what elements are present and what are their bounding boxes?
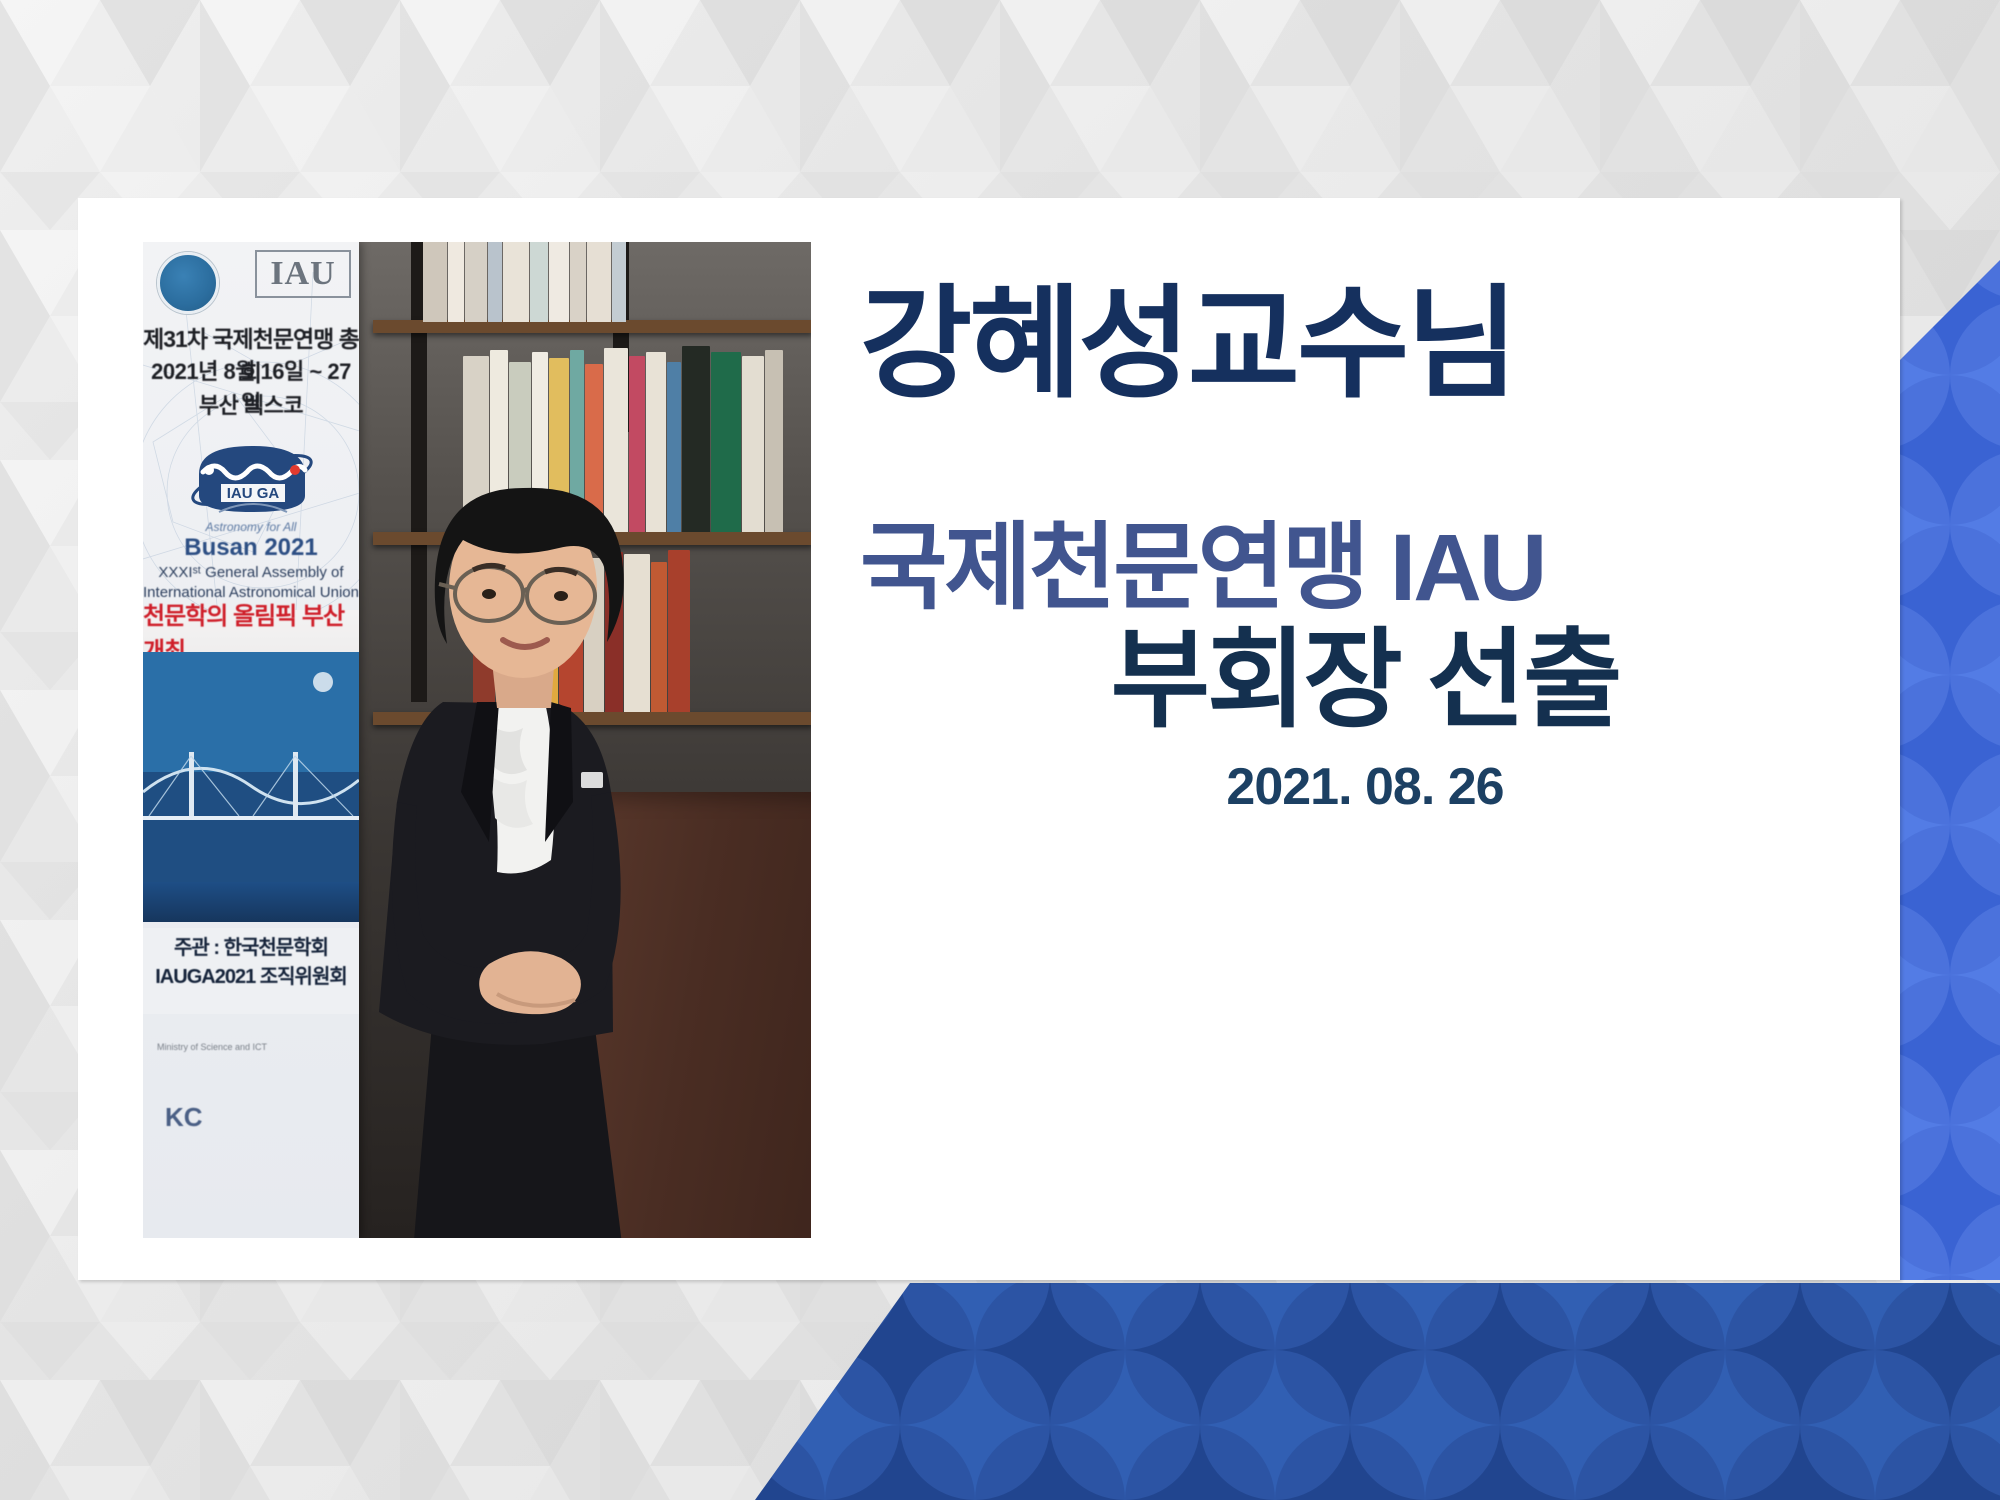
poster-assembly-line-1: XXXIˢᵗ General Assembly of bbox=[143, 564, 359, 581]
date-label: 2021. 08. 26 bbox=[860, 757, 1870, 817]
person-silhouette bbox=[293, 372, 811, 1238]
subtitle-line-1: 국제천문연맹 IAU bbox=[860, 517, 1870, 620]
poster-venue: 부산 벡스코 bbox=[143, 388, 359, 420]
iau-mark: IAU bbox=[255, 250, 351, 298]
ministry-logo-text: Ministry of Science and ICT bbox=[157, 1042, 267, 1052]
poster-red-banner: 천문학의 올림픽 부산 개최 bbox=[143, 610, 359, 652]
poster-host-block: 주관 : 한국천문학회 IAUGA2021 조직위원회 bbox=[143, 928, 359, 1014]
text-column: 강혜성교수님 국제천문연맹 IAU 부회장 선출 2021. 08. 26 bbox=[860, 280, 1870, 817]
slide-canvas: IAU 제31차 국제천문연맹 총회 2021년 8월 16일 ~ 27일 부산… bbox=[0, 0, 2000, 1500]
subtitle-line-2: 부회장 선출 bbox=[860, 622, 1870, 739]
poster-host-line-2: IAUGA2021 조직위원회 bbox=[143, 963, 359, 992]
portrait-photo: IAU 제31차 국제천문연맹 총회 2021년 8월 16일 ~ 27일 부산… bbox=[143, 242, 811, 1238]
iau-conference-poster: IAU 제31차 국제천문연맹 총회 2021년 8월 16일 ~ 27일 부산… bbox=[143, 242, 359, 1238]
books-row bbox=[423, 242, 811, 322]
poster-city-year: Busan 2021 bbox=[143, 534, 359, 562]
svg-text:IAU GA: IAU GA bbox=[227, 485, 280, 502]
busan-bridge-photo bbox=[143, 652, 359, 882]
page-title: 강혜성교수님 bbox=[860, 280, 1870, 409]
poster-blue-bar bbox=[143, 882, 359, 922]
university-seal-icon bbox=[157, 252, 219, 314]
poster-host-line-1: 주관 : 한국천문학회 bbox=[143, 934, 359, 963]
poster-tagline: Astronomy for All bbox=[143, 520, 359, 534]
sponsor-logo: KC bbox=[165, 1102, 203, 1133]
iauga-logo-icon: IAU GA bbox=[181, 434, 323, 520]
person-figure bbox=[293, 372, 811, 1238]
